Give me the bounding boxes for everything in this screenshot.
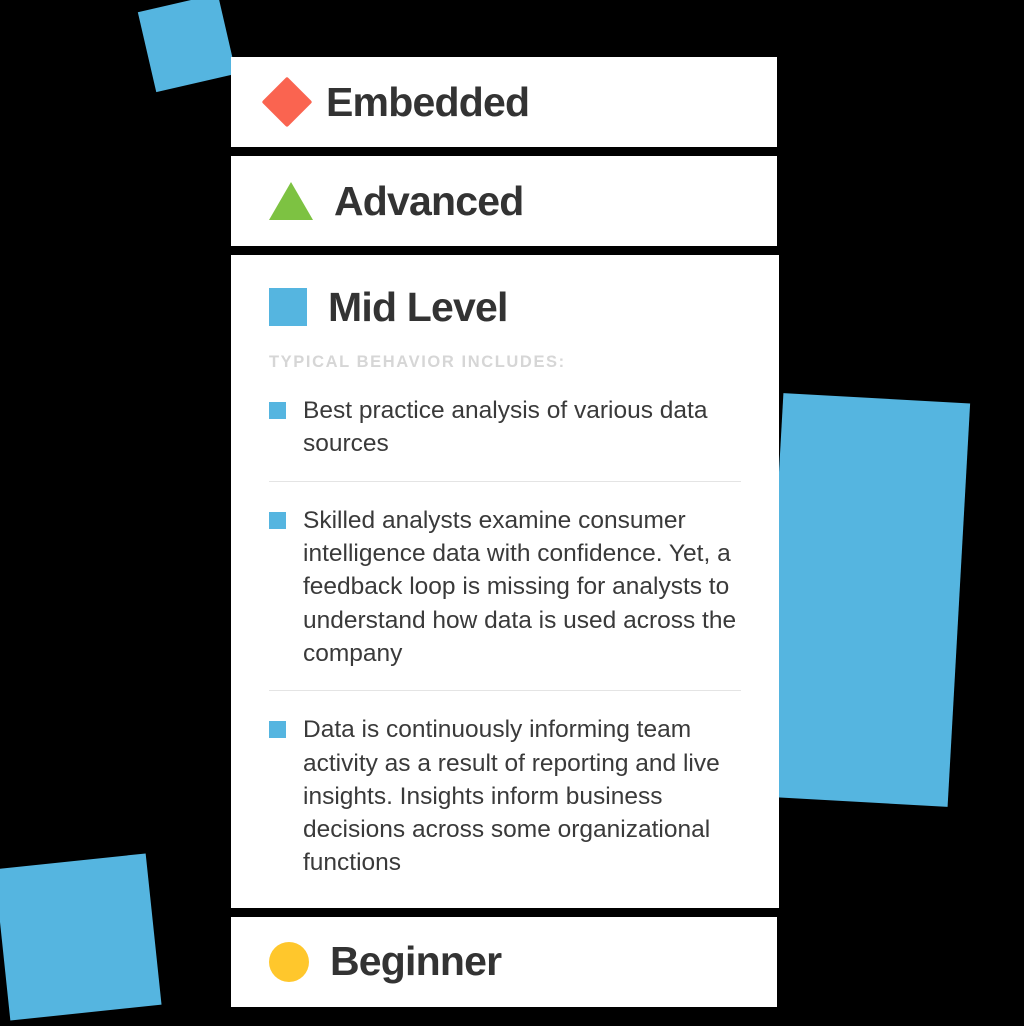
triangle-icon <box>269 182 313 220</box>
card-title-advanced: Advanced <box>334 181 524 222</box>
card-title-embedded: Embedded <box>326 82 529 123</box>
behavior-list: Best practice analysis of various data s… <box>269 394 741 880</box>
list-item: Skilled analysts examine consumer intell… <box>269 504 741 692</box>
circle-icon <box>269 942 309 982</box>
card-header-beginner[interactable]: Beginner <box>231 917 777 1007</box>
bullet-square-icon <box>269 402 286 419</box>
maturity-card-beginner[interactable]: Beginner <box>231 917 777 1007</box>
bullet-square-icon <box>269 512 286 529</box>
card-header-advanced[interactable]: Advanced <box>231 156 777 246</box>
square-icon <box>269 288 307 326</box>
card-header-mid-level[interactable]: Mid Level <box>231 255 779 353</box>
blue-square-bottom-left-decoration <box>0 853 162 1020</box>
behavior-text: Best practice analysis of various data s… <box>303 394 741 461</box>
card-title-beginner: Beginner <box>330 941 501 982</box>
behavior-text: Skilled analysts examine consumer intell… <box>303 504 741 671</box>
diamond-icon <box>262 77 313 128</box>
blue-rect-right-decoration <box>761 393 970 807</box>
maturity-card-mid-level[interactable]: Mid Level Typical behavior includes: Bes… <box>231 255 779 908</box>
card-title-mid-level: Mid Level <box>328 287 508 328</box>
maturity-card-advanced[interactable]: Advanced <box>231 156 777 246</box>
bullet-square-icon <box>269 721 286 738</box>
maturity-card-embedded[interactable]: Embedded <box>231 57 777 147</box>
list-item: Best practice analysis of various data s… <box>269 394 741 482</box>
card-body-mid-level: Typical behavior includes: Best practice… <box>231 353 779 908</box>
blue-square-top-left-decoration <box>138 0 236 92</box>
section-label-typical-behavior: Typical behavior includes: <box>269 353 741 372</box>
behavior-text: Data is continuously informing team acti… <box>303 713 741 880</box>
card-header-embedded[interactable]: Embedded <box>231 57 777 147</box>
list-item: Data is continuously informing team acti… <box>269 713 741 880</box>
maturity-level-card-stack: Embedded Advanced Mid Level Typical beha… <box>231 57 779 1007</box>
